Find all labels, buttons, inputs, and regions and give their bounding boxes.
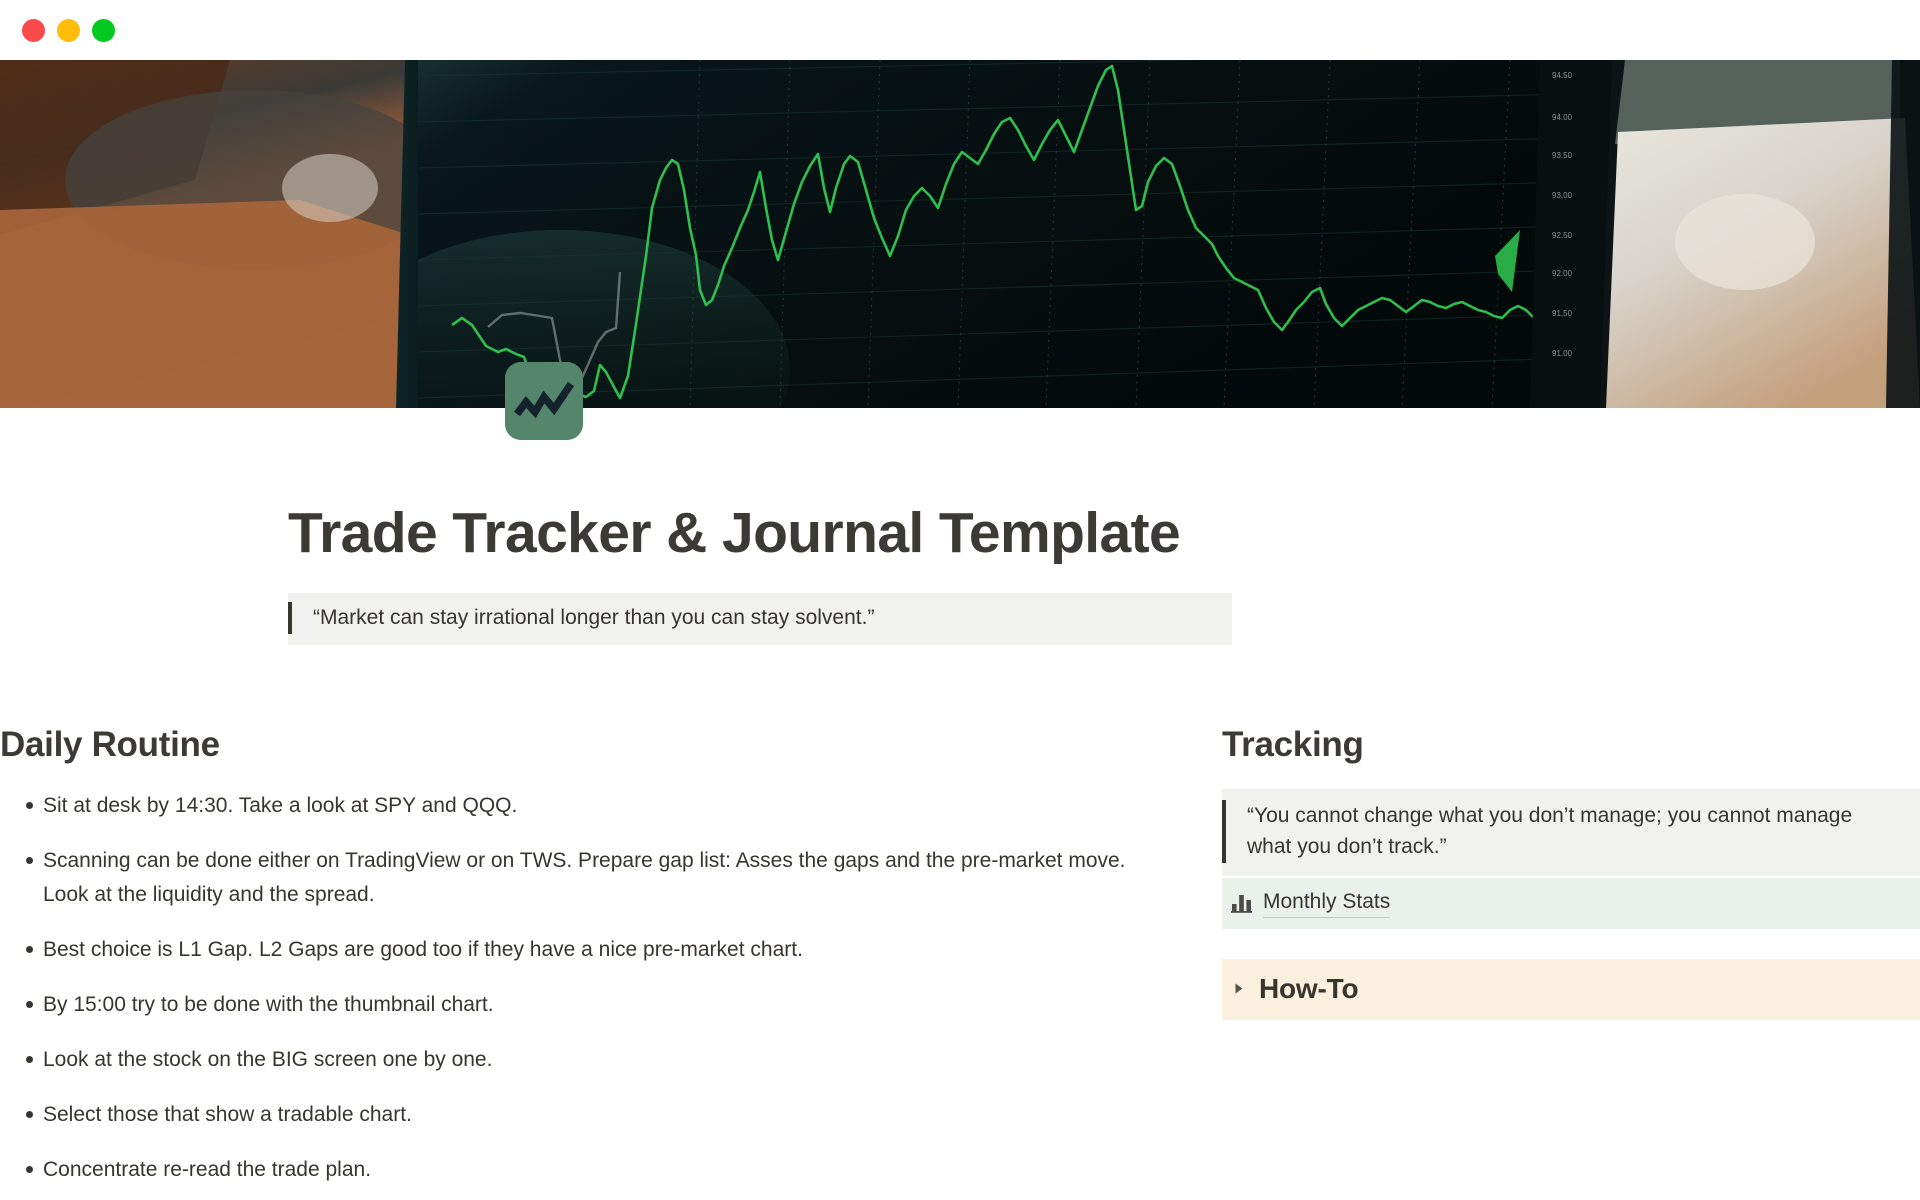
list-item[interactable]: By 15:00 try to be done with the thumbna… [0, 988, 1140, 1022]
svg-text:93.00: 93.00 [1552, 191, 1573, 200]
window-close-button[interactable] [22, 19, 45, 42]
how-to-label: How-To [1259, 971, 1358, 1007]
column-daily-routine: Daily Routine Sit at desk by 14:30. Take… [0, 723, 1222, 1200]
chart-line-glyph [505, 362, 583, 440]
document-header: Trade Tracker & Journal Template “Market… [288, 500, 1632, 645]
tracking-quote-text: “You cannot change what you don’t manage… [1226, 800, 1920, 864]
list-item[interactable]: Look at the stock on the BIG screen one … [0, 1043, 1140, 1077]
svg-text:92.00: 92.00 [1552, 269, 1573, 278]
triangle-right-icon[interactable] [1232, 982, 1245, 995]
how-to-toggle-block[interactable]: How-To [1222, 959, 1920, 1020]
tracking-heading: Tracking [1222, 723, 1920, 767]
svg-text:92.50: 92.50 [1552, 231, 1573, 240]
window-minimize-button[interactable] [57, 19, 80, 42]
chart-line-icon [505, 362, 583, 440]
two-column-layout: Daily Routine Sit at desk by 14:30. Take… [0, 723, 1920, 1200]
svg-text:93.50: 93.50 [1552, 151, 1573, 160]
window-maximize-button[interactable] [92, 19, 115, 42]
list-item[interactable]: Scanning can be done either on TradingVi… [0, 844, 1140, 912]
window-titlebar [0, 0, 1920, 60]
svg-text:91.00: 91.00 [1552, 349, 1573, 358]
page-title: Trade Tracker & Journal Template [288, 500, 1632, 567]
svg-text:94.50: 94.50 [1552, 71, 1573, 80]
header-quote-callout: “Market can stay irrational longer than … [288, 593, 1232, 645]
svg-text:91.50: 91.50 [1552, 309, 1573, 318]
daily-routine-list: Sit at desk by 14:30. Take a look at SPY… [0, 789, 1222, 1200]
column-tracking: Tracking “You cannot change what you don… [1222, 723, 1920, 1020]
list-item[interactable]: Sit at desk by 14:30. Take a look at SPY… [0, 789, 1140, 823]
daily-routine-heading: Daily Routine [0, 723, 1222, 767]
app-window: 94.50 94.00 93.50 93.00 92.50 92.00 91.5… [0, 0, 1920, 1200]
page-cover-image[interactable]: 94.50 94.00 93.50 93.00 92.50 92.00 91.5… [0, 60, 1920, 408]
document-body: Trade Tracker & Journal Template “Market… [0, 408, 1920, 1200]
monthly-stats-link-row[interactable]: Monthly Stats [1222, 878, 1920, 928]
header-quote-text: “Market can stay irrational longer than … [292, 602, 890, 634]
hero-illustration: 94.50 94.00 93.50 93.00 92.50 92.00 91.5… [0, 60, 1920, 408]
list-item[interactable]: Best choice is L1 Gap. L2 Gaps are good … [0, 933, 1140, 967]
list-item[interactable]: Select those that show a tradable chart. [0, 1098, 1140, 1132]
tracking-quote-callout: “You cannot change what you don’t manage… [1222, 789, 1920, 877]
svg-text:94.00: 94.00 [1552, 113, 1573, 122]
bar-chart-icon [1230, 891, 1253, 914]
list-item[interactable]: Concentrate re-read the trade plan. [0, 1153, 1140, 1187]
monthly-stats-label[interactable]: Monthly Stats [1263, 888, 1390, 917]
page-icon[interactable] [505, 362, 583, 440]
